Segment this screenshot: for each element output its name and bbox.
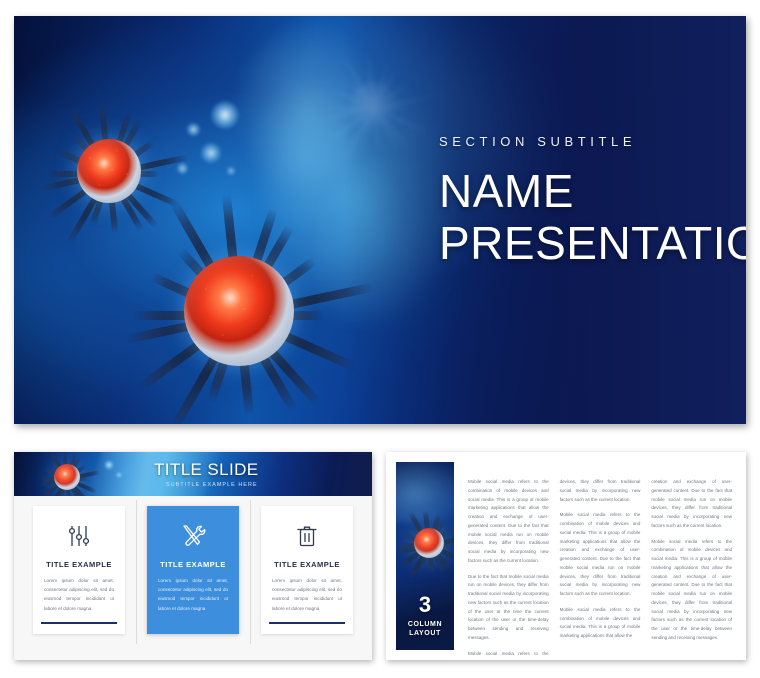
three-column-layout: 3 COLUMN LAYOUT Mobile social media refe… xyxy=(386,452,746,660)
feature-card[interactable]: TITLE EXAMPLE Lorem ipsum dolor sit amet… xyxy=(261,506,353,634)
virus-cell-icon xyxy=(396,506,454,580)
layout-badge-label: COLUMN LAYOUT xyxy=(396,620,454,638)
presentation-title: NAME PRESENTATION xyxy=(439,166,746,270)
sliders-icon xyxy=(41,518,117,554)
card-slot: TITLE EXAMPLE Lorem ipsum dolor sit amet… xyxy=(250,506,364,646)
thumbnail-title-slide[interactable]: TITLE SLIDE SUBTITLE EXAMPLE HERE xyxy=(14,452,372,660)
tools-icon xyxy=(155,518,231,554)
layout-badge-number: 3 xyxy=(396,594,454,616)
thumbnail-banner: TITLE SLIDE SUBTITLE EXAMPLE HERE xyxy=(14,452,372,496)
paragraph: creation and exchange of user-generated … xyxy=(651,478,732,531)
thumbnail-three-column-slide[interactable]: 3 COLUMN LAYOUT Mobile social media refe… xyxy=(386,452,746,660)
presentation-template-preview: SECTION SUBTITLE NAME PRESENTATION TITLE… xyxy=(0,0,760,678)
card-slot: TITLE EXAMPLE Lorem ipsum dolor sit amet… xyxy=(136,506,250,646)
thumbnail-title: TITLE SLIDE xyxy=(154,460,259,480)
card-underline xyxy=(41,622,117,624)
bokeh-light xyxy=(116,472,122,478)
text-column: Mobile social media refers to the combin… xyxy=(468,478,549,650)
thumbnail-subtitle: SUBTITLE EXAMPLE HERE xyxy=(166,482,258,488)
thumbnail-row: TITLE SLIDE SUBTITLE EXAMPLE HERE xyxy=(0,452,760,664)
paragraph: Mobile social media refers to the combin… xyxy=(468,478,549,566)
card-text: Lorem ipsum dolor sit amet, consectetur … xyxy=(155,576,231,613)
paragraph: Mobile social media refers to the combin… xyxy=(560,511,641,599)
slide-text-block: SECTION SUBTITLE NAME PRESENTATION xyxy=(439,134,746,270)
card-list: TITLE EXAMPLE Lorem ipsum dolor sit amet… xyxy=(22,506,364,646)
main-slide[interactable]: SECTION SUBTITLE NAME PRESENTATION xyxy=(14,16,746,424)
virus-cell-icon xyxy=(36,452,98,496)
thumbnail-card-area: TITLE EXAMPLE Lorem ipsum dolor sit amet… xyxy=(14,496,372,660)
paragraph: Mobile social media refers to the combin… xyxy=(468,650,549,660)
card-underline xyxy=(269,622,345,624)
feature-card-highlighted[interactable]: TITLE EXAMPLE Lorem ipsum dolor sit amet… xyxy=(147,506,239,634)
virus-core xyxy=(414,528,444,558)
card-title: TITLE EXAMPLE xyxy=(155,560,231,569)
text-column: creation and exchange of user-generated … xyxy=(651,478,732,650)
card-slot: TITLE EXAMPLE Lorem ipsum dolor sit amet… xyxy=(22,506,136,646)
text-column: devices, they differ from traditional so… xyxy=(560,478,641,650)
paragraph: Due to the fact that mobile social media… xyxy=(468,573,549,643)
card-text: Lorem ipsum dolor sit amet, consectetur … xyxy=(269,576,345,613)
text-columns: Mobile social media refers to the combin… xyxy=(454,462,732,650)
layout-badge: 3 COLUMN LAYOUT xyxy=(396,594,454,638)
card-underline xyxy=(155,622,231,624)
bokeh-light xyxy=(104,460,114,470)
trash-icon xyxy=(269,518,345,554)
paragraph: devices, they differ from traditional so… xyxy=(560,478,641,504)
card-title: TITLE EXAMPLE xyxy=(41,560,117,569)
feature-card[interactable]: TITLE EXAMPLE Lorem ipsum dolor sit amet… xyxy=(33,506,125,634)
card-text: Lorem ipsum dolor sit amet, consectetur … xyxy=(41,576,117,613)
side-image-strip: 3 COLUMN LAYOUT xyxy=(396,462,454,650)
paragraph: Mobile social media refers to the combin… xyxy=(651,538,732,643)
virus-core xyxy=(54,464,80,490)
section-subtitle: SECTION SUBTITLE xyxy=(439,134,746,149)
paragraph: Mobile social media refers to the combin… xyxy=(560,606,641,641)
card-title: TITLE EXAMPLE xyxy=(269,560,345,569)
